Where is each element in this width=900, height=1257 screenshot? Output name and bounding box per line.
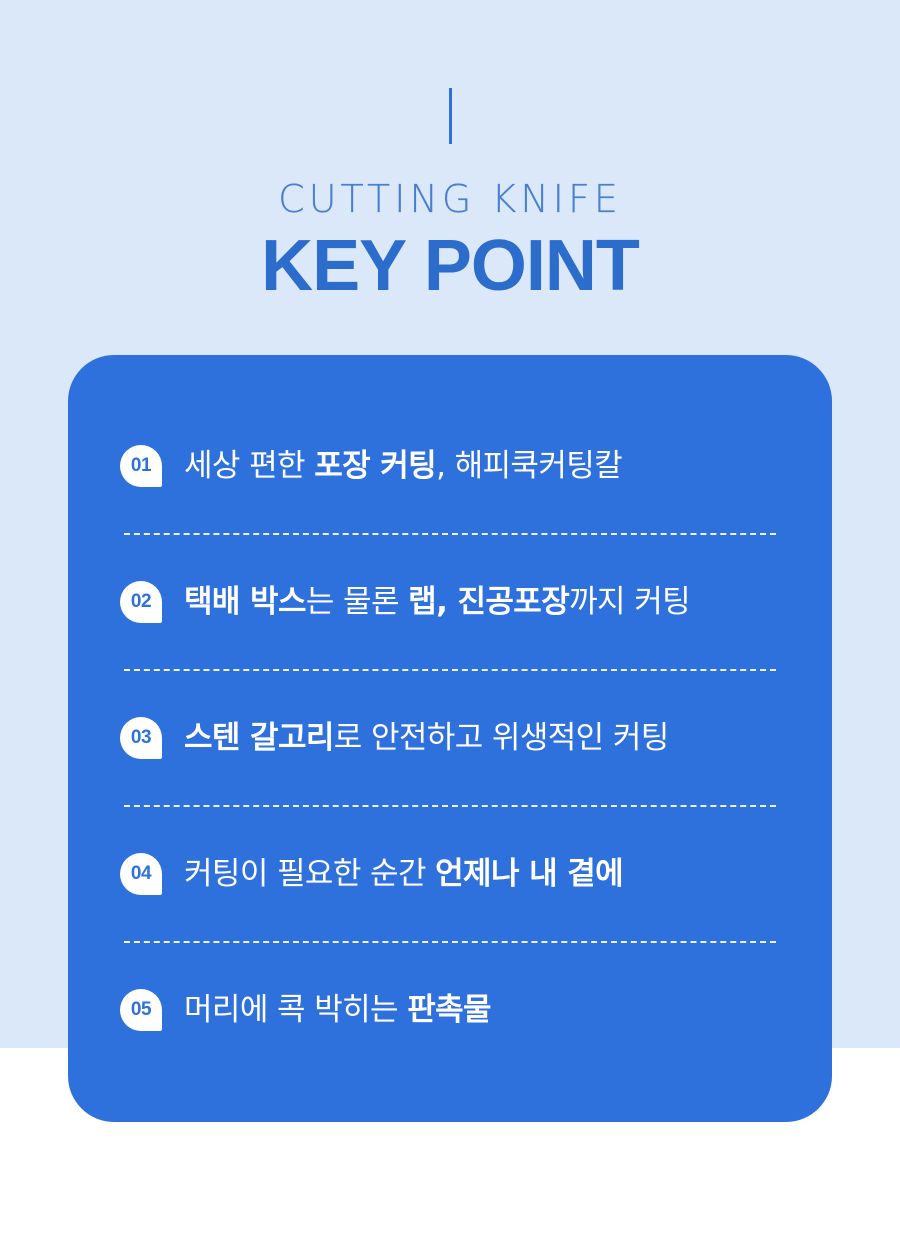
point-number-badge: 03 xyxy=(120,717,162,759)
point-text: 머리에 콕 박히는 판촉물 xyxy=(184,990,491,1030)
list-item: 01세상 편한 포장 커팅, 해피쿡커팅칼 xyxy=(120,421,780,511)
point-number-badge: 05 xyxy=(120,989,162,1031)
list-item: 02택배 박스는 물론 랩, 진공포장까지 커팅 xyxy=(120,557,780,647)
point-text-normal: 세상 편한 xyxy=(184,448,314,484)
point-number-badge: 02 xyxy=(120,581,162,623)
point-text-normal: , 해피쿡커팅칼 xyxy=(436,448,622,484)
vertical-rule-icon xyxy=(449,88,452,144)
point-text-normal: 는 물론 xyxy=(306,584,408,620)
key-point-list: 01세상 편한 포장 커팅, 해피쿡커팅칼02택배 박스는 물론 랩, 진공포장… xyxy=(120,421,780,1055)
point-text-emphasis: 랩, 진공포장 xyxy=(408,584,569,620)
point-text: 커팅이 필요한 순간 언제나 내 곁에 xyxy=(184,854,623,894)
point-text-emphasis: 판촉물 xyxy=(407,992,491,1028)
key-point-card: 01세상 편한 포장 커팅, 해피쿡커팅칼02택배 박스는 물론 랩, 진공포장… xyxy=(68,355,832,1122)
point-text-emphasis: 택배 박스 xyxy=(184,584,306,620)
key-point-page: CUTTING KNIFE KEY POINT 01세상 편한 포장 커팅, 해… xyxy=(0,0,900,1257)
header-eyebrow: CUTTING KNIFE xyxy=(0,177,900,221)
list-divider xyxy=(124,941,776,943)
list-item: 05머리에 콕 박히는 판촉물 xyxy=(120,965,780,1055)
point-text-emphasis: 언제나 내 곁에 xyxy=(435,856,623,892)
point-text-normal: 로 안전하고 위생적인 커팅 xyxy=(334,720,669,756)
point-text-normal: 까지 커팅 xyxy=(569,584,690,620)
point-number-badge: 01 xyxy=(120,445,162,487)
page-header: CUTTING KNIFE KEY POINT xyxy=(0,0,900,307)
list-divider xyxy=(124,533,776,535)
list-item: 03스텐 갈고리로 안전하고 위생적인 커팅 xyxy=(120,693,780,783)
point-text: 세상 편한 포장 커팅, 해피쿡커팅칼 xyxy=(184,446,622,486)
list-divider xyxy=(124,805,776,807)
point-text-normal: 커팅이 필요한 순간 xyxy=(184,856,435,892)
point-text: 스텐 갈고리로 안전하고 위생적인 커팅 xyxy=(184,718,669,758)
list-item: 04커팅이 필요한 순간 언제나 내 곁에 xyxy=(120,829,780,919)
point-number-badge: 04 xyxy=(120,853,162,895)
point-text: 택배 박스는 물론 랩, 진공포장까지 커팅 xyxy=(184,582,690,622)
point-text-emphasis: 스텐 갈고리 xyxy=(184,720,334,756)
point-text-normal: 머리에 콕 박히는 xyxy=(184,992,407,1028)
list-divider xyxy=(124,669,776,671)
page-title: KEY POINT xyxy=(0,225,900,307)
point-text-emphasis: 포장 커팅 xyxy=(314,448,436,484)
